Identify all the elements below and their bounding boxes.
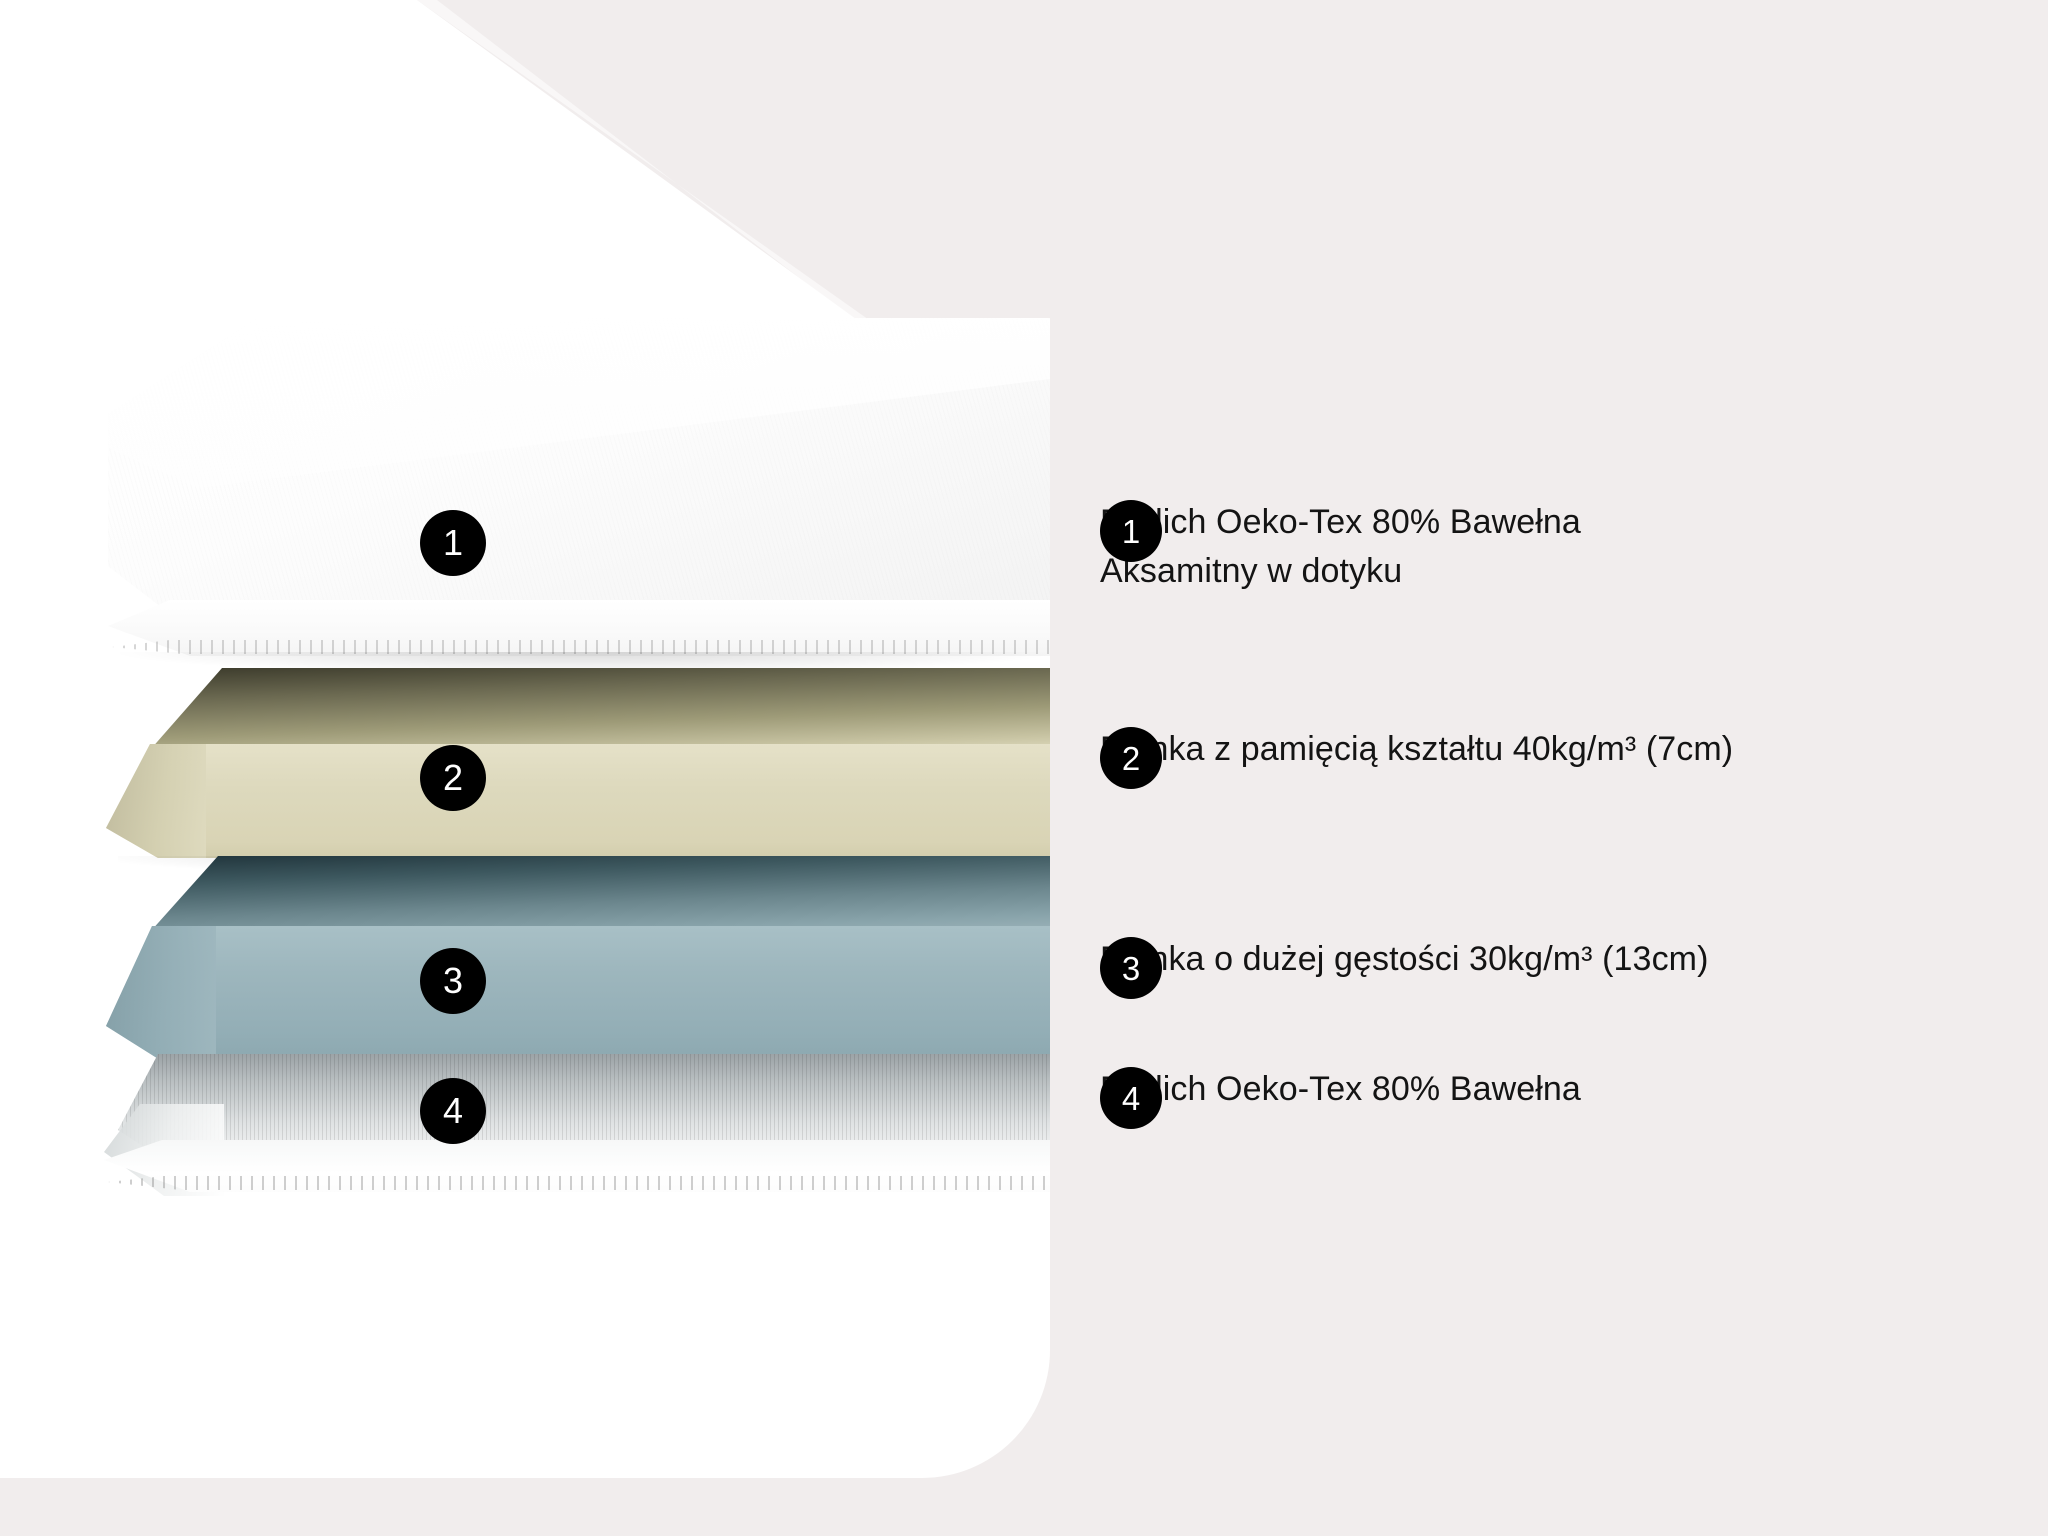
legend-text-3: Pianka o dużej gęstości 30kg/m³ (13cm) xyxy=(1100,935,1709,984)
infographic-canvas: 1 2 3 4 1 Drelich Oeko-Tex 80% Bawełna A… xyxy=(0,0,2048,1536)
legend-text-4: Drelich Oeko-Tex 80% Bawełna xyxy=(1100,1065,1581,1114)
layer-2-memory-foam-face xyxy=(106,744,1050,870)
layer-4-stitch-line xyxy=(108,1176,1050,1190)
mattress-badge-4[interactable]: 4 xyxy=(420,1078,486,1144)
layer-3-high-density-foam-top xyxy=(150,856,1050,932)
legend-item-1: 1 Drelich Oeko-Tex 80% Bawełna Aksamitny… xyxy=(1100,498,1581,597)
legend-text-1-line2: Aksamitny w dotyku xyxy=(1100,547,1581,596)
layer-2-memory-foam-top xyxy=(150,668,1050,750)
legend-item-3: 3 Pianka o dużej gęstości 30kg/m³ (13cm) xyxy=(1100,935,1709,984)
legend-text-3-line1: Pianka o dużej gęstości 30kg/m³ (13cm) xyxy=(1100,940,1709,978)
legend-badge-2[interactable]: 2 xyxy=(1100,727,1162,789)
legend-text-2: Pianka z pamięcią kształtu 40kg/m³ (7cm) xyxy=(1100,725,1733,774)
legend-list: 1 Drelich Oeko-Tex 80% Bawełna Aksamitny… xyxy=(1100,0,1980,1536)
legend-text-4-line1: Drelich Oeko-Tex 80% Bawełna xyxy=(1100,1070,1581,1108)
legend-text-2-line1: Pianka z pamięcią kształtu 40kg/m³ (7cm) xyxy=(1100,730,1733,768)
legend-text-1-line1: Drelich Oeko-Tex 80% Bawełna xyxy=(1100,503,1581,541)
legend-text-1: Drelich Oeko-Tex 80% Bawełna Aksamitny w… xyxy=(1100,498,1581,597)
legend-badge-3[interactable]: 3 xyxy=(1100,937,1162,999)
layer-2-memory-foam-bevel xyxy=(106,744,206,870)
legend-item-4: 4 Drelich Oeko-Tex 80% Bawełna xyxy=(1100,1065,1581,1114)
layer-3-high-density-foam-face xyxy=(106,926,1050,1072)
mattress-layer-illustration: 1 2 3 4 xyxy=(0,0,1050,1536)
mattress-badge-3[interactable]: 3 xyxy=(420,948,486,1014)
mattress-badge-2[interactable]: 2 xyxy=(420,745,486,811)
mattress-badge-1[interactable]: 1 xyxy=(420,510,486,576)
legend-badge-4[interactable]: 4 xyxy=(1100,1067,1162,1129)
layer-3-high-density-foam-bevel xyxy=(106,926,216,1072)
legend-badge-1[interactable]: 1 xyxy=(1100,500,1162,562)
legend-item-2: 2 Pianka z pamięcią kształtu 40kg/m³ (7c… xyxy=(1100,725,1733,774)
layer-4-binding-lip xyxy=(104,1140,1050,1206)
